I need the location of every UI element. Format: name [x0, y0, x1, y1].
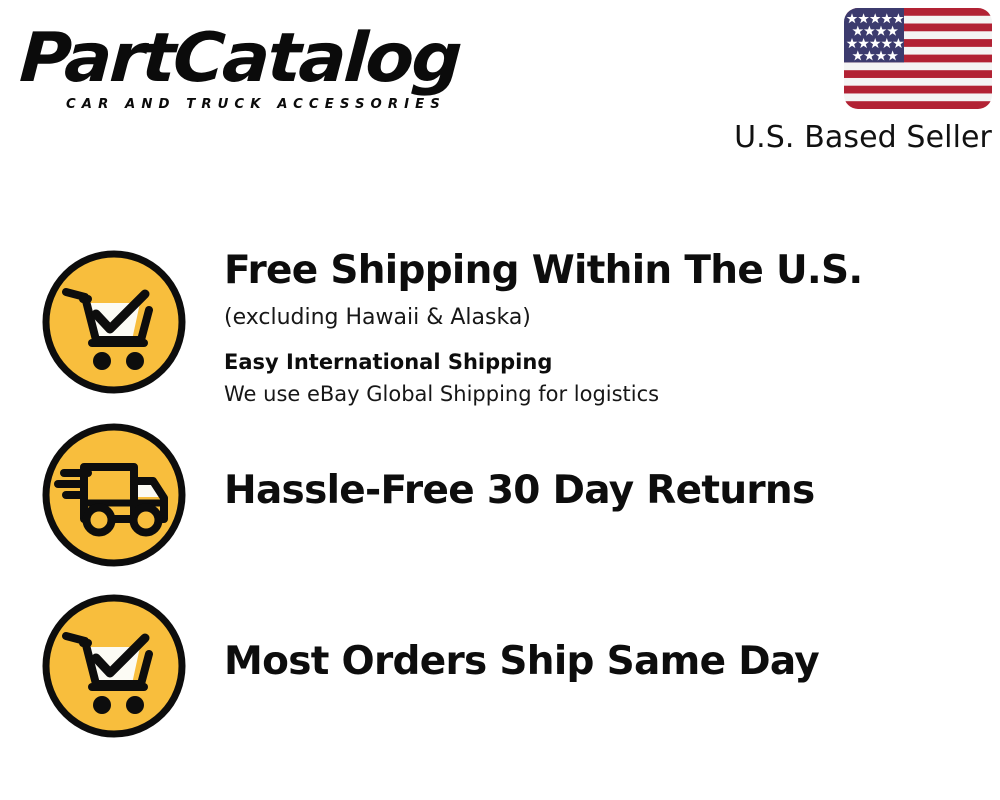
feature-title: Free Shipping Within The U.S.	[224, 248, 980, 294]
feature-secondary-title: Easy International Shipping	[224, 347, 980, 377]
delivery-truck-icon	[40, 421, 188, 569]
feature-title: Hassle-Free 30 Day Returns	[224, 468, 980, 514]
cart-check-icon	[40, 248, 188, 396]
feature-text: Free Shipping Within The U.S. (excluding…	[188, 248, 980, 409]
feature-list: Free Shipping Within The U.S. (excluding…	[0, 0, 1000, 800]
feature-secondary-text: We use eBay Global Shipping for logistic…	[224, 379, 980, 409]
feature-text: Hassle-Free 30 Day Returns	[188, 421, 980, 514]
feature-row: Hassle-Free 30 Day Returns	[40, 421, 980, 569]
feature-row: Most Orders Ship Same Day	[40, 592, 980, 740]
feature-title: Most Orders Ship Same Day	[224, 639, 980, 685]
feature-subtitle: (excluding Hawaii & Alaska)	[224, 302, 980, 334]
feature-text: Most Orders Ship Same Day	[188, 592, 980, 685]
feature-row: Free Shipping Within The U.S. (excluding…	[40, 248, 980, 409]
cart-check-icon	[40, 592, 188, 740]
